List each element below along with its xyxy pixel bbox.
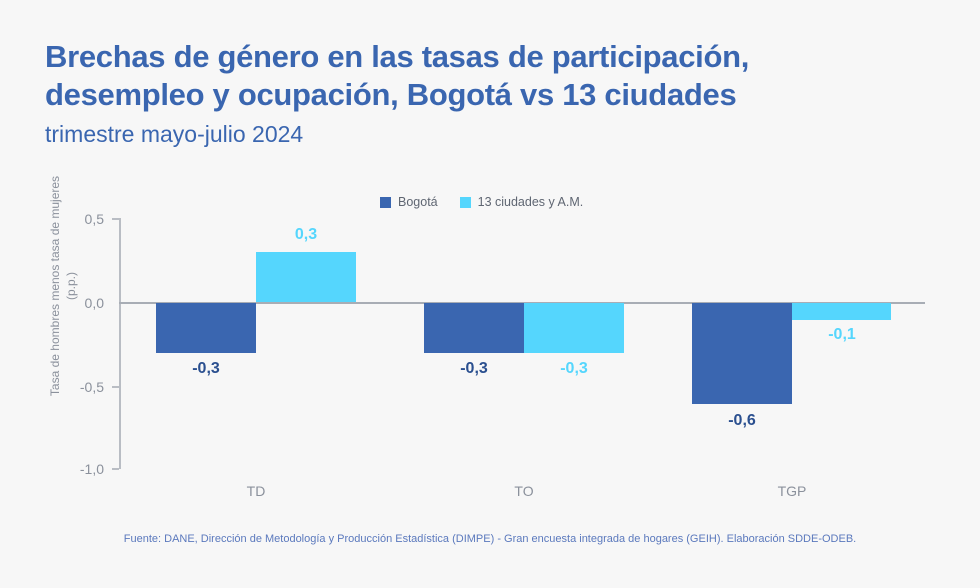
y-tick-label: 0,0	[48, 295, 104, 311]
bar-value-bogota-td: -0,3	[192, 360, 220, 378]
chart-page: Brechas de género en las tasas de partic…	[0, 0, 980, 588]
bar-bogota-tgp[interactable]	[692, 303, 792, 404]
bar-ciudades-td[interactable]	[256, 252, 356, 302]
bar-bogota-td[interactable]	[156, 303, 256, 353]
y-tick-mark	[112, 386, 119, 388]
bar-value-bogota-to: -0,3	[460, 360, 488, 378]
bar-chart: Tasa de hombres menos tasa de mujeres (p…	[0, 0, 980, 588]
bar-ciudades-tgp[interactable]	[792, 303, 891, 320]
bar-value-ciudades-tgp: -0,1	[828, 326, 856, 344]
y-tick-mark	[112, 218, 119, 220]
category-label-tgp: TGP	[778, 483, 807, 499]
category-label-td: TD	[247, 483, 266, 499]
y-tick-mark	[112, 468, 119, 470]
bar-value-ciudades-to: -0,3	[560, 360, 588, 378]
y-axis-title: Tasa de hombres menos tasa de mujeres (p…	[47, 171, 79, 401]
bar-bogota-to[interactable]	[424, 303, 524, 353]
bar-ciudades-to[interactable]	[524, 303, 624, 353]
bar-value-bogota-tgp: -0,6	[728, 412, 756, 430]
y-tick-label: -1,0	[48, 461, 104, 477]
category-label-to: TO	[514, 483, 533, 499]
bar-value-ciudades-td: 0,3	[295, 226, 317, 244]
y-axis-line	[119, 218, 121, 469]
y-tick-label: 0,5	[48, 211, 104, 227]
y-tick-label: -0,5	[48, 379, 104, 395]
source-note: Fuente: DANE, Dirección de Metodología y…	[0, 531, 980, 547]
